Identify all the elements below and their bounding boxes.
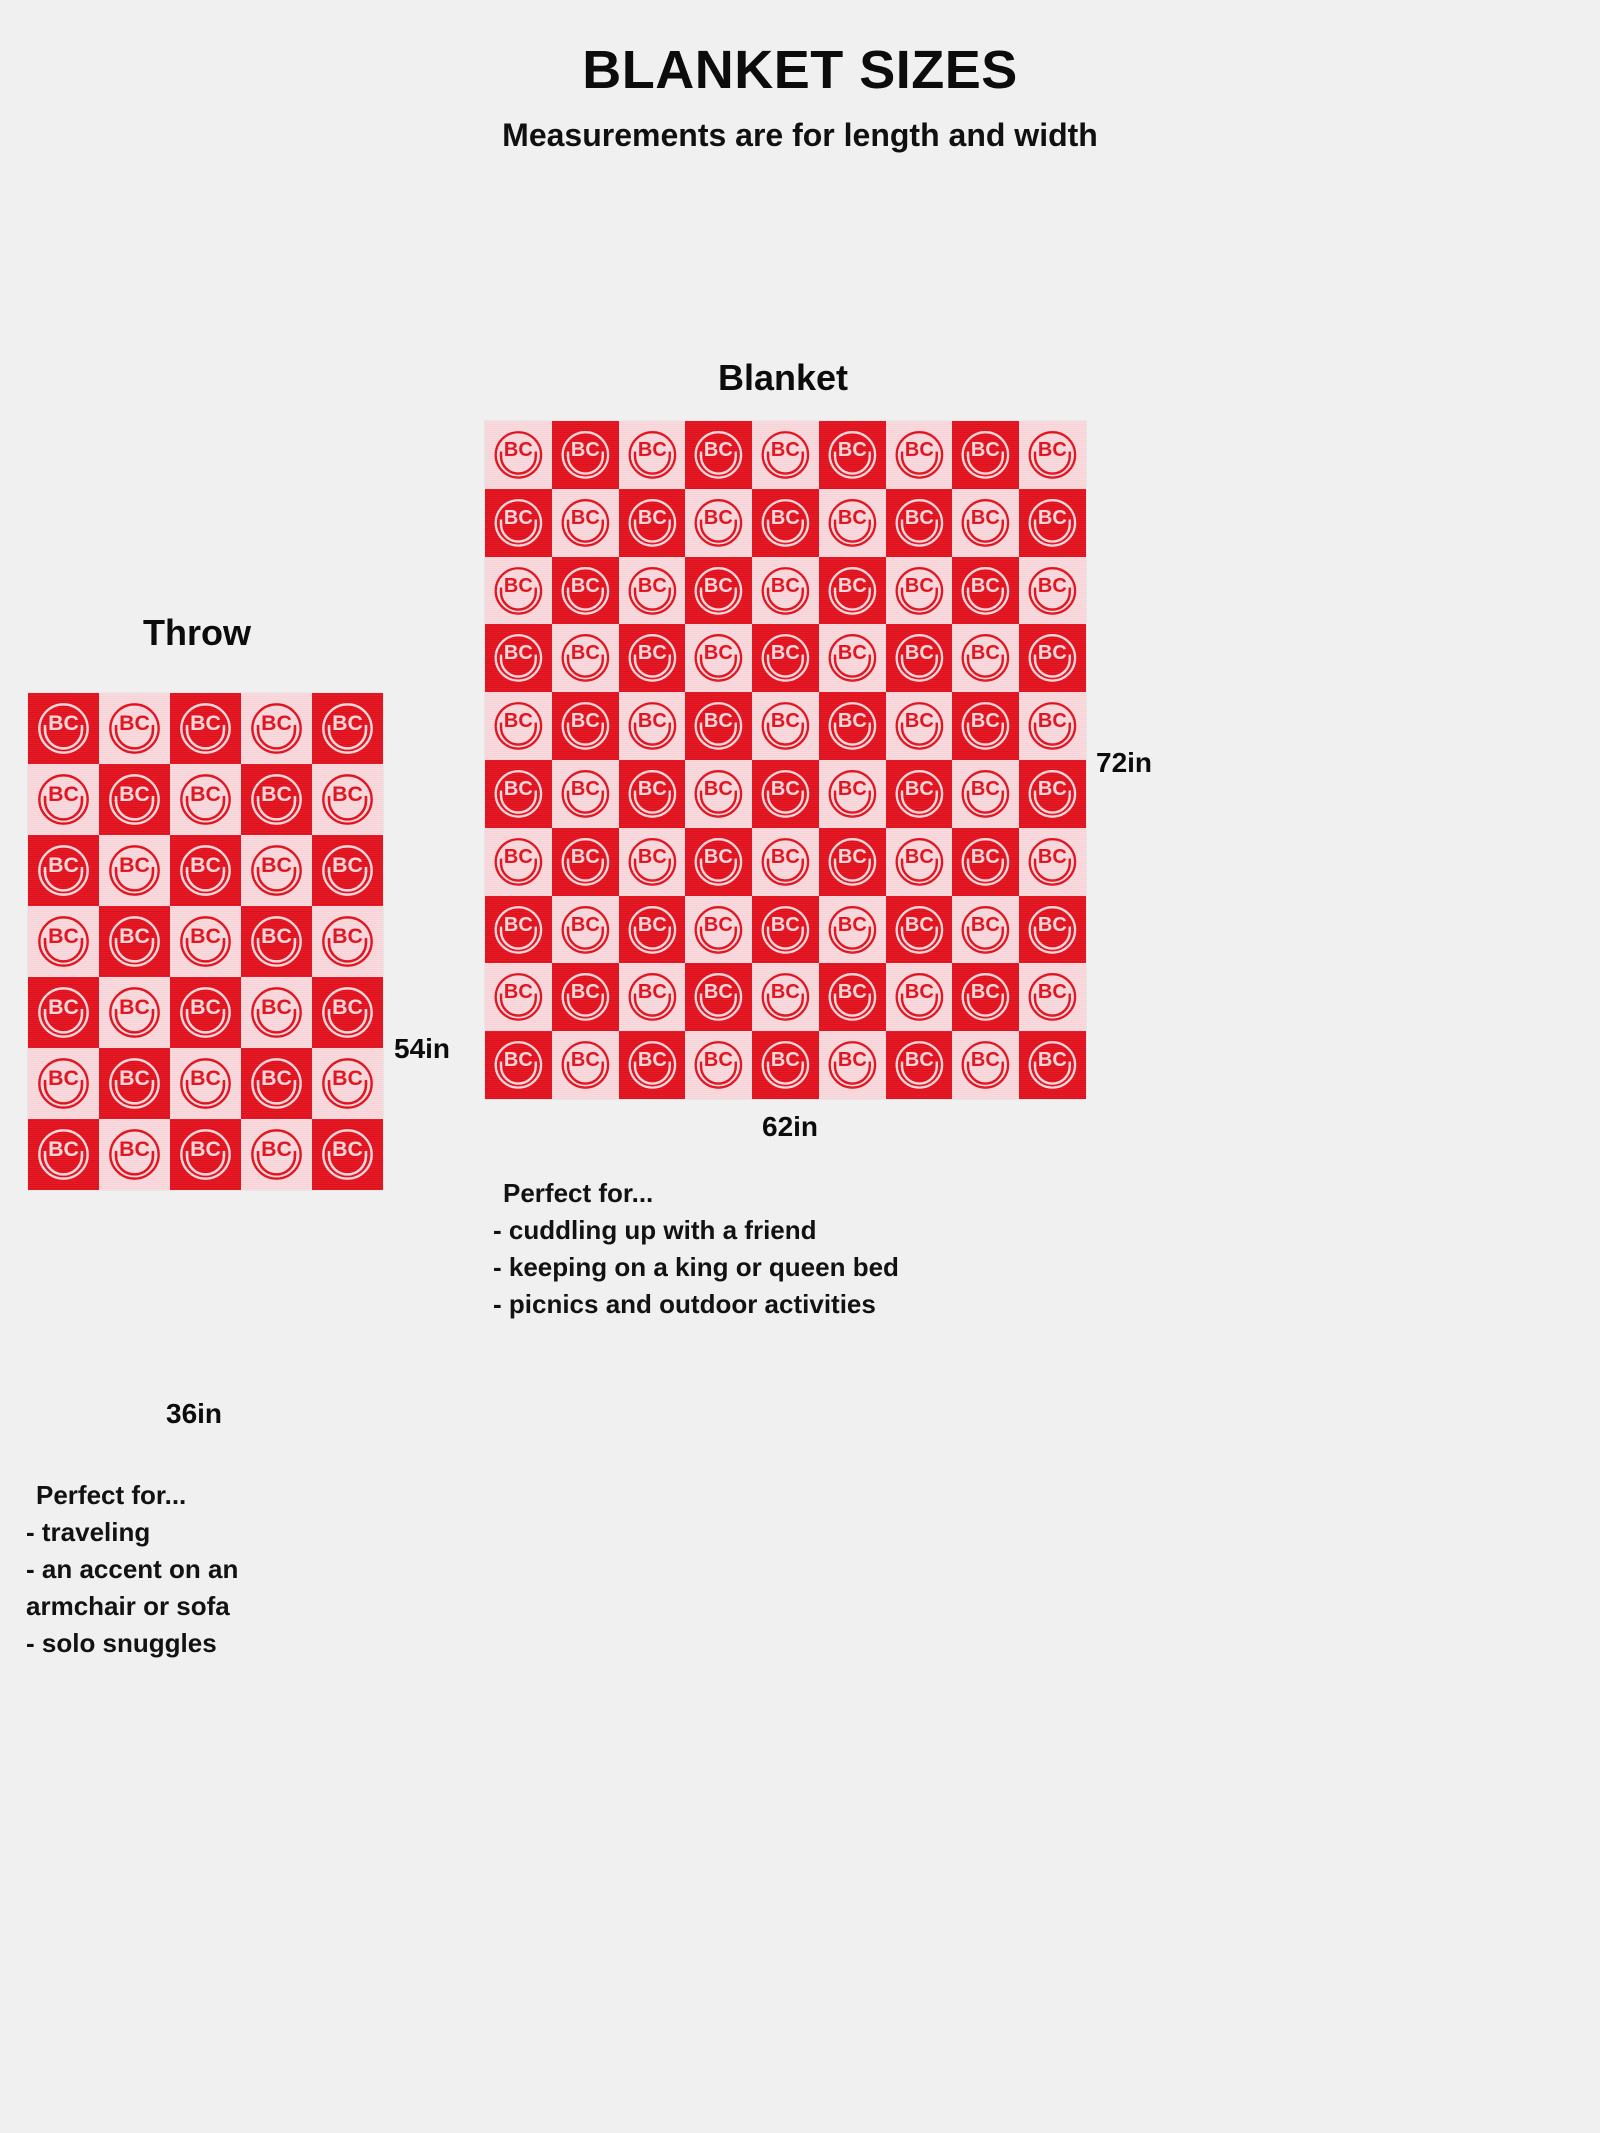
blanket-tile-red: BC: [619, 624, 686, 692]
svg-text:BC: BC: [1038, 982, 1067, 1004]
bc-smiley-icon: BC: [170, 1119, 241, 1190]
blanket-tile-pink: BC: [752, 963, 819, 1031]
blanket-tile-pink: BC: [552, 896, 619, 964]
blanket-tile-pink: BC: [1019, 692, 1086, 760]
blanket-tile-red: BC: [485, 489, 552, 557]
svg-text:BC: BC: [504, 575, 533, 597]
blanket-perfect-for-list: Perfect for... - cuddling up with a frie…: [493, 1175, 899, 1323]
svg-text:BC: BC: [771, 507, 800, 529]
bc-smiley-icon: BC: [552, 421, 619, 489]
svg-text:BC: BC: [905, 507, 934, 529]
blanket-tile-red: BC: [685, 692, 752, 760]
svg-text:BC: BC: [504, 846, 533, 868]
bc-smiley-icon: BC: [886, 896, 953, 964]
blanket-tile-pink: BC: [619, 828, 686, 896]
svg-text:BC: BC: [704, 507, 733, 529]
svg-text:BC: BC: [704, 575, 733, 597]
blanket-tile-red: BC: [170, 977, 241, 1048]
bc-smiley-icon: BC: [28, 835, 99, 906]
svg-text:BC: BC: [771, 846, 800, 868]
blanket-tile-pink: BC: [685, 1031, 752, 1099]
svg-text:BC: BC: [1038, 1049, 1067, 1071]
bc-smiley-icon: BC: [819, 1031, 886, 1099]
svg-text:BC: BC: [261, 782, 292, 806]
svg-text:BC: BC: [571, 507, 600, 529]
blanket-tile-pink: BC: [241, 835, 312, 906]
blanket-tile-pink: BC: [241, 977, 312, 1048]
blanket-tile-red: BC: [552, 557, 619, 625]
svg-text:BC: BC: [704, 846, 733, 868]
svg-text:BC: BC: [905, 778, 934, 800]
bc-smiley-icon: BC: [752, 557, 819, 625]
svg-text:BC: BC: [504, 778, 533, 800]
blanket-tile-pink: BC: [685, 624, 752, 692]
bc-smiley-icon: BC: [886, 828, 953, 896]
svg-text:BC: BC: [704, 1049, 733, 1071]
blanket-tile-red: BC: [99, 764, 170, 835]
blanket-tile-red: BC: [819, 692, 886, 760]
bc-smiley-icon: BC: [752, 760, 819, 828]
bc-smiley-icon: BC: [485, 760, 552, 828]
svg-text:BC: BC: [971, 914, 1000, 936]
bc-smiley-icon: BC: [819, 963, 886, 1031]
bc-smiley-icon: BC: [170, 835, 241, 906]
svg-text:BC: BC: [905, 710, 934, 732]
blanket-tile-red: BC: [99, 906, 170, 977]
svg-text:BC: BC: [1038, 846, 1067, 868]
bc-smiley-icon: BC: [619, 624, 686, 692]
throw-perfect-for-item: - solo snuggles: [26, 1625, 238, 1662]
blanket-tile-red: BC: [312, 1119, 383, 1190]
svg-text:BC: BC: [48, 782, 79, 806]
throw-width-label: 36in: [166, 1398, 222, 1430]
blanket-tile-pink: BC: [886, 557, 953, 625]
blanket-tile-pink: BC: [685, 760, 752, 828]
blanket-tile-pink: BC: [886, 692, 953, 760]
bc-smiley-icon: BC: [312, 1048, 383, 1119]
svg-text:BC: BC: [261, 1066, 292, 1090]
svg-text:BC: BC: [119, 782, 150, 806]
blanket-tile-pink: BC: [619, 557, 686, 625]
svg-text:BC: BC: [905, 1049, 934, 1071]
svg-text:BC: BC: [704, 914, 733, 936]
blanket-tile-pink: BC: [886, 828, 953, 896]
blanket-height-label: 72in: [1096, 747, 1152, 779]
bc-smiley-icon: BC: [619, 489, 686, 557]
blanket-tile-red: BC: [752, 760, 819, 828]
svg-text:BC: BC: [571, 575, 600, 597]
blanket-tile-red: BC: [819, 963, 886, 1031]
svg-text:BC: BC: [1038, 914, 1067, 936]
svg-text:BC: BC: [119, 1066, 150, 1090]
blanket-tile-pink: BC: [1019, 421, 1086, 489]
throw-section-title: Throw: [143, 612, 251, 654]
svg-text:BC: BC: [119, 995, 150, 1019]
bc-smiley-icon: BC: [619, 896, 686, 964]
svg-text:BC: BC: [190, 924, 221, 948]
blanket-tile-pink: BC: [886, 963, 953, 1031]
svg-text:BC: BC: [119, 924, 150, 948]
svg-text:BC: BC: [771, 778, 800, 800]
blanket-tile-red: BC: [619, 1031, 686, 1099]
svg-text:BC: BC: [261, 995, 292, 1019]
blanket-tile-pink: BC: [819, 1031, 886, 1099]
blanket-tile-red: BC: [886, 896, 953, 964]
bc-smiley-icon: BC: [952, 489, 1019, 557]
bc-smiley-icon: BC: [552, 489, 619, 557]
svg-text:BC: BC: [190, 782, 221, 806]
bc-smiley-icon: BC: [485, 963, 552, 1031]
svg-text:BC: BC: [971, 710, 1000, 732]
bc-smiley-icon: BC: [312, 693, 383, 764]
blanket-tile-red: BC: [485, 1031, 552, 1099]
blanket-tile-pink: BC: [752, 828, 819, 896]
svg-text:BC: BC: [971, 643, 1000, 665]
blanket-tile-red: BC: [1019, 896, 1086, 964]
bc-smiley-icon: BC: [1019, 624, 1086, 692]
throw-height-label: 54in: [394, 1033, 450, 1065]
svg-text:BC: BC: [119, 711, 150, 735]
bc-smiley-icon: BC: [552, 828, 619, 896]
svg-text:BC: BC: [48, 924, 79, 948]
svg-text:BC: BC: [905, 846, 934, 868]
bc-smiley-icon: BC: [886, 1031, 953, 1099]
blanket-tile-pink: BC: [685, 896, 752, 964]
svg-text:BC: BC: [704, 643, 733, 665]
bc-smiley-icon: BC: [619, 692, 686, 760]
blanket-perfect-for-heading: Perfect for...: [493, 1175, 899, 1212]
bc-smiley-icon: BC: [241, 835, 312, 906]
bc-smiley-icon: BC: [312, 977, 383, 1048]
blanket-tile-red: BC: [485, 760, 552, 828]
svg-text:BC: BC: [637, 846, 666, 868]
bc-smiley-icon: BC: [99, 835, 170, 906]
blanket-tile-pink: BC: [619, 421, 686, 489]
blanket-tile-pink: BC: [819, 489, 886, 557]
blanket-tile-pink: BC: [485, 421, 552, 489]
bc-smiley-icon: BC: [1019, 896, 1086, 964]
blanket-tile-red: BC: [685, 828, 752, 896]
svg-text:BC: BC: [332, 711, 363, 735]
svg-text:BC: BC: [771, 710, 800, 732]
bc-smiley-icon: BC: [752, 421, 819, 489]
svg-text:BC: BC: [190, 995, 221, 1019]
bc-smiley-icon: BC: [99, 1119, 170, 1190]
svg-text:BC: BC: [332, 782, 363, 806]
bc-smiley-icon: BC: [886, 692, 953, 760]
blanket-tile-pink: BC: [99, 977, 170, 1048]
blanket-tile-red: BC: [1019, 760, 1086, 828]
blanket-tile-red: BC: [170, 693, 241, 764]
svg-text:BC: BC: [332, 995, 363, 1019]
svg-text:BC: BC: [48, 1137, 79, 1161]
svg-text:BC: BC: [48, 995, 79, 1019]
bc-smiley-icon: BC: [952, 692, 1019, 760]
svg-text:BC: BC: [838, 507, 867, 529]
bc-smiley-icon: BC: [485, 1031, 552, 1099]
svg-text:BC: BC: [771, 439, 800, 461]
bc-smiley-icon: BC: [99, 1048, 170, 1119]
bc-smiley-icon: BC: [241, 1119, 312, 1190]
svg-text:BC: BC: [190, 1066, 221, 1090]
blanket-tile-red: BC: [619, 760, 686, 828]
blanket-tile-red: BC: [819, 557, 886, 625]
blanket-tile-pink: BC: [752, 421, 819, 489]
bc-smiley-icon: BC: [886, 963, 953, 1031]
bc-smiley-icon: BC: [952, 963, 1019, 1031]
svg-text:BC: BC: [771, 914, 800, 936]
blanket-tile-pink: BC: [552, 624, 619, 692]
blanket-tile-pink: BC: [619, 963, 686, 1031]
bc-smiley-icon: BC: [952, 1031, 1019, 1099]
bc-smiley-icon: BC: [886, 489, 953, 557]
blanket-perfect-for-item: - keeping on a king or queen bed: [493, 1249, 899, 1286]
blanket-tile-red: BC: [685, 557, 752, 625]
svg-text:BC: BC: [838, 643, 867, 665]
blanket-section-title: Blanket: [718, 357, 848, 399]
svg-text:BC: BC: [332, 1066, 363, 1090]
svg-text:BC: BC: [838, 914, 867, 936]
bc-smiley-icon: BC: [819, 421, 886, 489]
bc-smiley-icon: BC: [952, 557, 1019, 625]
blanket-tile-red: BC: [1019, 489, 1086, 557]
blanket-tile-red: BC: [241, 906, 312, 977]
bc-smiley-icon: BC: [28, 1119, 99, 1190]
svg-text:BC: BC: [504, 1049, 533, 1071]
page-header: BLANKET SIZES Measurements are for lengt…: [0, 0, 1600, 154]
svg-text:BC: BC: [571, 1049, 600, 1071]
bc-smiley-icon: BC: [312, 1119, 383, 1190]
blanket-tile-red: BC: [99, 1048, 170, 1119]
blanket-tile-pink: BC: [1019, 963, 1086, 1031]
svg-text:BC: BC: [637, 439, 666, 461]
svg-text:BC: BC: [504, 439, 533, 461]
blanket-tile-pink: BC: [485, 557, 552, 625]
bc-smiley-icon: BC: [619, 963, 686, 1031]
svg-text:BC: BC: [190, 853, 221, 877]
svg-text:BC: BC: [504, 914, 533, 936]
blanket-tile-red: BC: [952, 963, 1019, 1031]
blanket-tile-pink: BC: [99, 835, 170, 906]
blanket-tile-red: BC: [312, 693, 383, 764]
blanket-tile-pink: BC: [485, 963, 552, 1031]
svg-text:BC: BC: [704, 710, 733, 732]
svg-text:BC: BC: [637, 643, 666, 665]
blanket-tile-red: BC: [952, 421, 1019, 489]
bc-smiley-icon: BC: [312, 906, 383, 977]
svg-text:BC: BC: [905, 439, 934, 461]
blanket-tile-pink: BC: [819, 624, 886, 692]
bc-smiley-icon: BC: [685, 421, 752, 489]
bc-smiley-icon: BC: [485, 489, 552, 557]
blanket-tile-red: BC: [752, 624, 819, 692]
bc-smiley-icon: BC: [28, 1048, 99, 1119]
svg-text:BC: BC: [838, 778, 867, 800]
svg-text:BC: BC: [971, 846, 1000, 868]
bc-smiley-icon: BC: [886, 760, 953, 828]
blanket-tile-pink: BC: [485, 828, 552, 896]
blanket-tile-pink: BC: [312, 906, 383, 977]
bc-smiley-icon: BC: [819, 624, 886, 692]
svg-text:BC: BC: [704, 982, 733, 1004]
bc-smiley-icon: BC: [752, 963, 819, 1031]
svg-text:BC: BC: [48, 711, 79, 735]
svg-text:BC: BC: [190, 1137, 221, 1161]
svg-text:BC: BC: [119, 853, 150, 877]
blanket-tile-pink: BC: [552, 760, 619, 828]
bc-smiley-icon: BC: [685, 489, 752, 557]
bc-smiley-icon: BC: [752, 489, 819, 557]
blanket-tile-red: BC: [28, 977, 99, 1048]
svg-text:BC: BC: [905, 575, 934, 597]
blanket-tile-red: BC: [685, 421, 752, 489]
bc-smiley-icon: BC: [99, 977, 170, 1048]
svg-text:BC: BC: [571, 846, 600, 868]
bc-smiley-icon: BC: [241, 764, 312, 835]
svg-text:BC: BC: [261, 1137, 292, 1161]
blanket-tile-pink: BC: [99, 1119, 170, 1190]
throw-blanket-swatch: BCBCBCBCBCBCBCBCBCBCBCBCBCBCBCBCBCBCBCBC…: [28, 693, 383, 1190]
svg-text:BC: BC: [971, 575, 1000, 597]
bc-smiley-icon: BC: [241, 1048, 312, 1119]
blanket-tile-pink: BC: [685, 489, 752, 557]
svg-text:BC: BC: [838, 982, 867, 1004]
bc-smiley-icon: BC: [170, 906, 241, 977]
bc-smiley-icon: BC: [99, 906, 170, 977]
svg-text:BC: BC: [571, 778, 600, 800]
blanket-tile-red: BC: [619, 489, 686, 557]
svg-text:BC: BC: [332, 1137, 363, 1161]
bc-smiley-icon: BC: [685, 1031, 752, 1099]
bc-smiley-icon: BC: [485, 896, 552, 964]
blanket-tile-pink: BC: [752, 557, 819, 625]
svg-text:BC: BC: [838, 846, 867, 868]
bc-smiley-icon: BC: [685, 624, 752, 692]
svg-text:BC: BC: [571, 982, 600, 1004]
svg-text:BC: BC: [48, 1066, 79, 1090]
bc-smiley-icon: BC: [886, 557, 953, 625]
svg-text:BC: BC: [504, 710, 533, 732]
blanket-tile-red: BC: [886, 489, 953, 557]
bc-smiley-icon: BC: [819, 896, 886, 964]
blanket-tile-pink: BC: [312, 764, 383, 835]
bc-smiley-icon: BC: [485, 692, 552, 760]
bc-smiley-icon: BC: [952, 421, 1019, 489]
bc-smiley-icon: BC: [685, 760, 752, 828]
blanket-tile-red: BC: [952, 828, 1019, 896]
bc-smiley-icon: BC: [552, 624, 619, 692]
blanket-tile-pink: BC: [1019, 557, 1086, 625]
bc-smiley-icon: BC: [619, 557, 686, 625]
blanket-tile-red: BC: [886, 624, 953, 692]
svg-text:BC: BC: [261, 924, 292, 948]
blanket-tile-pink: BC: [952, 896, 1019, 964]
blanket-tile-red: BC: [1019, 1031, 1086, 1099]
blanket-tile-pink: BC: [952, 624, 1019, 692]
svg-text:BC: BC: [637, 507, 666, 529]
throw-perfect-for-list: Perfect for... - traveling- an accent on…: [26, 1477, 238, 1662]
svg-text:BC: BC: [971, 507, 1000, 529]
blanket-tile-red: BC: [685, 963, 752, 1031]
bc-smiley-icon: BC: [952, 828, 1019, 896]
svg-text:BC: BC: [261, 853, 292, 877]
svg-text:BC: BC: [1038, 439, 1067, 461]
svg-text:BC: BC: [190, 711, 221, 735]
svg-text:BC: BC: [119, 1137, 150, 1161]
blanket-perfect-for-item: - cuddling up with a friend: [493, 1212, 899, 1249]
blanket-tile-pink: BC: [485, 692, 552, 760]
throw-perfect-for-item: armchair or sofa: [26, 1588, 238, 1625]
bc-smiley-icon: BC: [485, 624, 552, 692]
bc-smiley-icon: BC: [170, 1048, 241, 1119]
blanket-tile-red: BC: [752, 896, 819, 964]
blanket-tile-red: BC: [312, 977, 383, 1048]
blanket-tile-red: BC: [552, 421, 619, 489]
blanket-tile-red: BC: [752, 489, 819, 557]
bc-smiley-icon: BC: [485, 557, 552, 625]
svg-text:BC: BC: [905, 914, 934, 936]
svg-text:BC: BC: [771, 643, 800, 665]
blanket-tile-pink: BC: [28, 764, 99, 835]
blanket-tile-red: BC: [28, 1119, 99, 1190]
svg-text:BC: BC: [971, 982, 1000, 1004]
bc-smiley-icon: BC: [170, 764, 241, 835]
svg-text:BC: BC: [1038, 643, 1067, 665]
bc-smiley-icon: BC: [1019, 489, 1086, 557]
blanket-tile-red: BC: [28, 693, 99, 764]
bc-smiley-icon: BC: [1019, 557, 1086, 625]
blanket-tile-red: BC: [485, 624, 552, 692]
bc-smiley-icon: BC: [99, 693, 170, 764]
blanket-tile-red: BC: [241, 1048, 312, 1119]
blanket-tile-pink: BC: [552, 1031, 619, 1099]
svg-text:BC: BC: [771, 982, 800, 1004]
bc-smiley-icon: BC: [685, 896, 752, 964]
page-subtitle: Measurements are for length and width: [0, 99, 1600, 154]
bc-smiley-icon: BC: [619, 760, 686, 828]
svg-text:BC: BC: [332, 853, 363, 877]
blanket-tile-pink: BC: [619, 692, 686, 760]
svg-text:BC: BC: [838, 575, 867, 597]
blanket-tile-red: BC: [241, 764, 312, 835]
svg-text:BC: BC: [704, 439, 733, 461]
svg-text:BC: BC: [905, 643, 934, 665]
svg-text:BC: BC: [48, 853, 79, 877]
blanket-tile-red: BC: [170, 1119, 241, 1190]
bc-smiley-icon: BC: [241, 906, 312, 977]
svg-text:BC: BC: [637, 914, 666, 936]
bc-smiley-icon: BC: [952, 624, 1019, 692]
svg-text:BC: BC: [571, 710, 600, 732]
blanket-tile-red: BC: [619, 896, 686, 964]
bc-smiley-icon: BC: [1019, 828, 1086, 896]
bc-smiley-icon: BC: [1019, 421, 1086, 489]
svg-text:BC: BC: [504, 982, 533, 1004]
bc-smiley-icon: BC: [752, 624, 819, 692]
blanket-tile-pink: BC: [552, 489, 619, 557]
blanket-tile-pink: BC: [752, 692, 819, 760]
bc-smiley-icon: BC: [1019, 1031, 1086, 1099]
blanket-tile-pink: BC: [99, 693, 170, 764]
bc-smiley-icon: BC: [552, 760, 619, 828]
throw-perfect-for-heading: Perfect for...: [26, 1477, 238, 1514]
blanket-blanket-swatch: BCBCBCBCBCBCBCBCBCBCBCBCBCBCBCBCBCBCBCBC…: [485, 421, 1086, 1099]
blanket-tile-pink: BC: [819, 896, 886, 964]
bc-smiley-icon: BC: [170, 977, 241, 1048]
bc-smiley-icon: BC: [312, 835, 383, 906]
svg-text:BC: BC: [971, 439, 1000, 461]
bc-smiley-icon: BC: [170, 693, 241, 764]
